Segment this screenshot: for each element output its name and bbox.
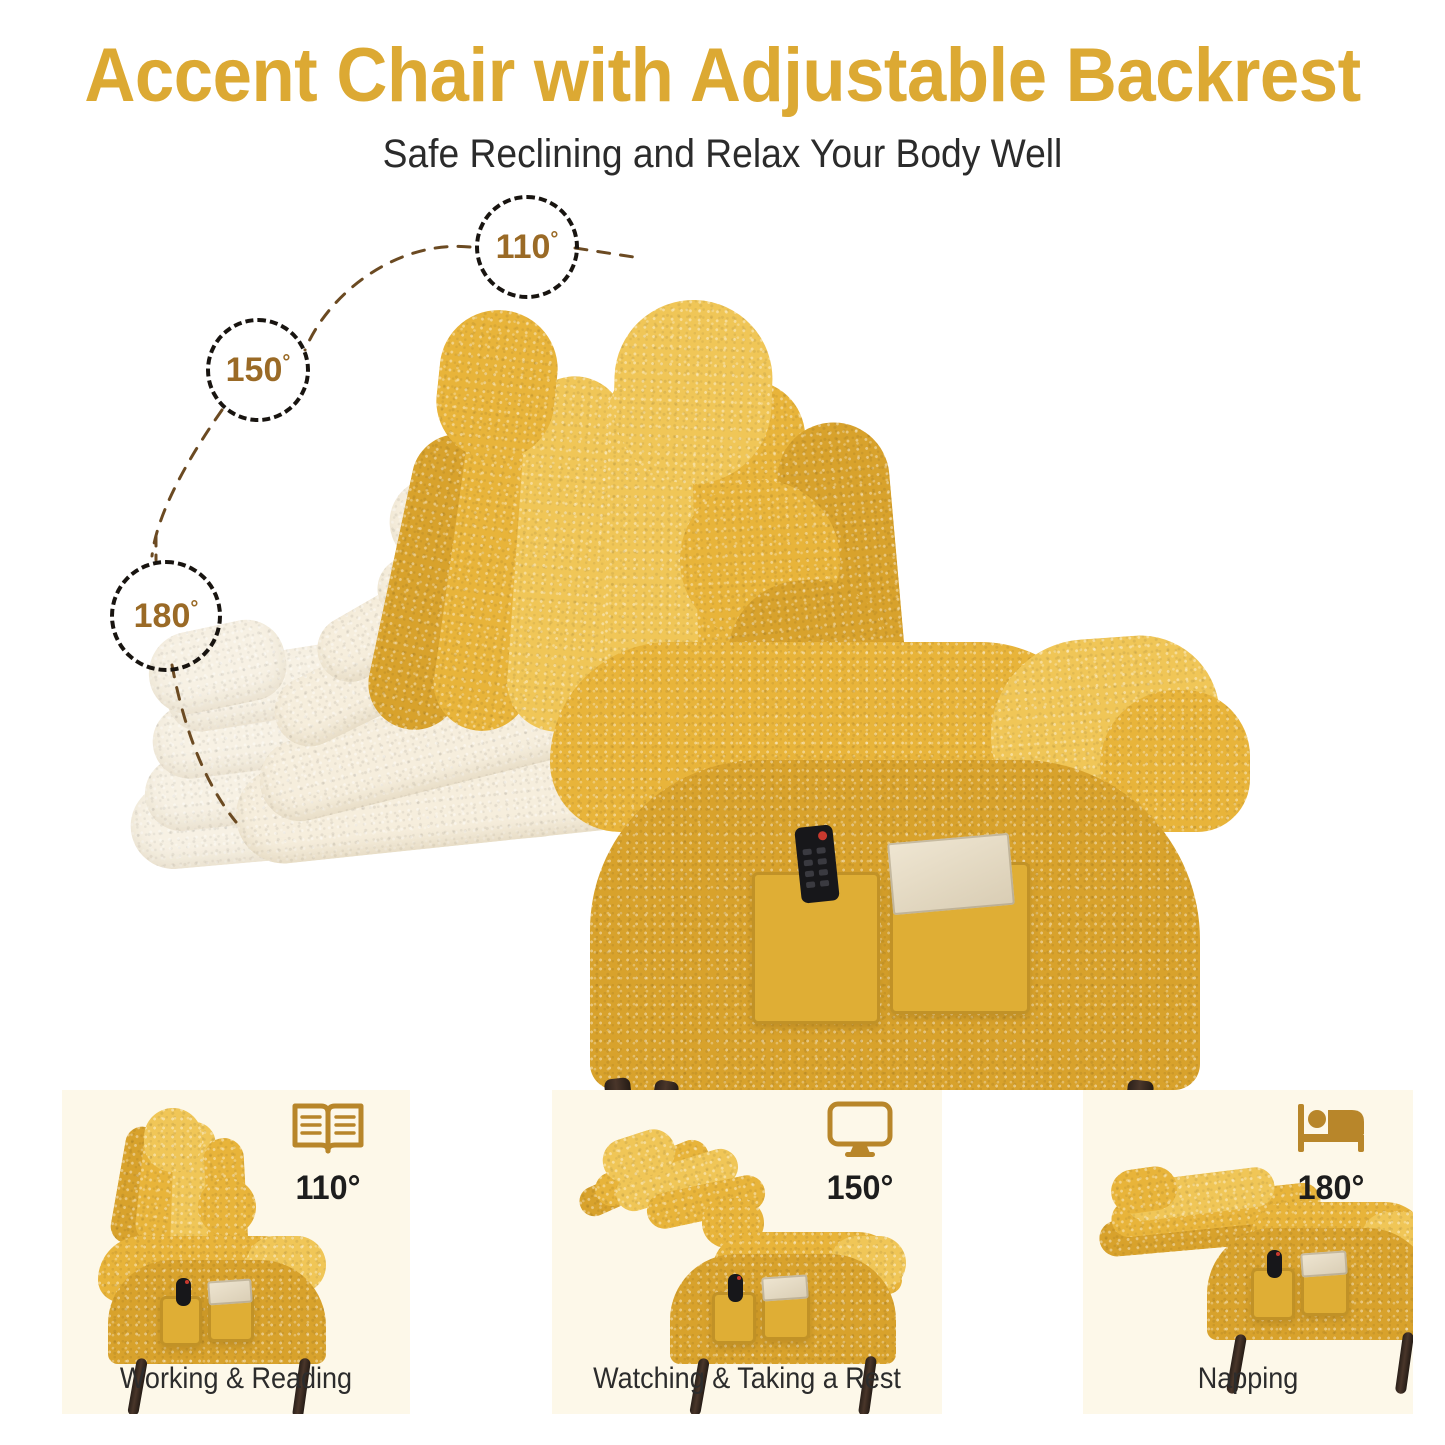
panel-degree-0: 110° (271, 1169, 385, 1208)
bed-icon (1292, 1098, 1370, 1160)
use-case-panels: 110° Working & Reading (0, 1090, 1445, 1420)
panel-degree-2: 180° (1274, 1169, 1388, 1208)
header: Accent Chair with Adjustable Backrest Sa… (0, 0, 1445, 174)
remote-control (794, 824, 840, 904)
panel-icon-area-0: 110° (268, 1098, 388, 1208)
panel-caption-0: Working & Reading (79, 1362, 392, 1396)
monitor-icon (821, 1098, 899, 1160)
panel-caption-2: Napping (1100, 1362, 1397, 1396)
book-in-pocket (887, 833, 1015, 915)
headrest-pillow-main (611, 297, 775, 486)
page-title: Accent Chair with Adjustable Backrest (51, 38, 1395, 114)
panel-caption-1: Watching & Taking a Rest (572, 1362, 923, 1396)
panel-icon-area-1: 150° (800, 1098, 920, 1208)
panel-degree-1: 150° (803, 1169, 917, 1208)
infographic-page: Accent Chair with Adjustable Backrest Sa… (0, 0, 1445, 1445)
use-case-panel-watching-rest[interactable]: 150° Watching & Taking a Rest (552, 1090, 942, 1414)
use-case-panel-napping[interactable]: 180° Napping (1083, 1090, 1413, 1414)
use-case-panel-working-reading[interactable]: 110° Working & Reading (62, 1090, 410, 1414)
hero-illustration (0, 150, 1445, 1090)
panel-icon-area-2: 180° (1271, 1098, 1391, 1208)
open-book-icon (289, 1098, 367, 1160)
